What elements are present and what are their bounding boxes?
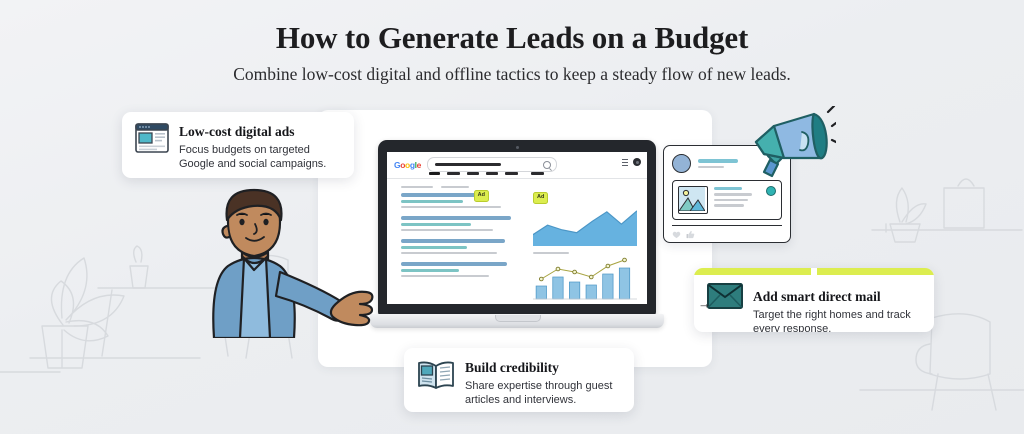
account-avatar-icon[interactable] (633, 158, 641, 166)
person-glyph (196, 188, 406, 338)
organic-results-column: Ad (387, 179, 527, 304)
envelope-glyph (707, 283, 743, 309)
chart-caption-line (533, 252, 569, 255)
card-inner: Add smart direct mail Target the right h… (707, 279, 921, 332)
social-post-author-lines (698, 159, 738, 168)
person-presenting-illustration (196, 188, 406, 343)
search-nav-tabs[interactable] (429, 172, 544, 175)
result-url (401, 223, 471, 226)
card-title: Add smart direct mail (753, 289, 921, 305)
google-logo: Google (394, 160, 421, 170)
card-text: Build credibility Share expertise throug… (465, 359, 621, 407)
card-title: Build credibility (465, 360, 621, 376)
open-book-glyph (417, 359, 455, 391)
browser-window-glyph (135, 123, 169, 153)
card-body: Focus budgets on targeted Google and soc… (179, 143, 341, 171)
result-snippet-line (401, 275, 489, 278)
browser-header-icons (622, 158, 641, 166)
search-query-text (435, 163, 501, 166)
result-url (401, 200, 463, 203)
page-subtitle: Combine low-cost digital and offline tac… (0, 64, 1024, 85)
magnifier-icon[interactable] (543, 161, 551, 169)
result-title[interactable] (401, 193, 477, 197)
social-post-reactions (672, 225, 782, 239)
ad-badge-wrapper: Ad (533, 185, 637, 204)
search-results-page: Ad (387, 179, 647, 304)
search-result-item[interactable] (401, 262, 521, 277)
grid-menu-icon[interactable] (622, 159, 628, 166)
user-avatar-icon (672, 154, 691, 173)
card-low-cost-digital-ads[interactable]: Low-cost digital ads Focus budgets on ta… (122, 112, 354, 178)
open-book-icon (417, 359, 455, 396)
card-body: Target the right homes and track every r… (753, 308, 921, 332)
search-result-item[interactable] (401, 239, 521, 254)
browser-toolbar: Google (387, 152, 647, 179)
connector-arrow-icon: → (698, 296, 711, 311)
card-add-smart-direct-mail[interactable]: Add smart direct mail Target the right h… (694, 268, 934, 332)
chart-bars (536, 268, 630, 299)
laptop-screen: Google (387, 152, 647, 304)
nav-tab-news[interactable] (486, 172, 498, 175)
result-url (401, 246, 467, 249)
card-text: Add smart direct mail Target the right h… (753, 283, 921, 332)
envelope-icon (707, 283, 743, 314)
search-result-item[interactable] (401, 216, 521, 231)
megaphone-icon (744, 106, 836, 189)
header: How to Generate Leads on a Budget Combin… (0, 0, 1024, 85)
card-text: Low-cost digital ads Focus budgets on ta… (179, 123, 341, 171)
heart-icon (672, 230, 681, 239)
nav-tab-more[interactable] (531, 172, 544, 175)
result-snippet-line (401, 252, 497, 255)
result-snippet-line (401, 206, 501, 209)
photo-thumbnail-glyph (679, 187, 705, 211)
infographic-canvas: How to Generate Leads on a Budget Combin… (0, 0, 1024, 434)
search-result-item[interactable]: Ad (401, 193, 521, 208)
result-snippet-line (401, 229, 493, 232)
card-body: Share expertise through guest articles a… (465, 379, 621, 407)
laptop: Google (370, 140, 664, 336)
bar-line-chart (533, 257, 637, 301)
ad-badge: Ad (533, 192, 548, 204)
nav-tab-images[interactable] (447, 172, 460, 175)
laptop-trackpad-notch (495, 315, 541, 322)
result-title[interactable] (401, 239, 505, 243)
photo-thumbnail-icon (678, 186, 708, 214)
card-title: Low-cost digital ads (179, 124, 341, 140)
webcam-icon (516, 146, 519, 149)
area-chart (533, 208, 637, 246)
card-build-credibility[interactable]: Build credibility Share expertise throug… (404, 348, 634, 412)
search-input[interactable] (427, 157, 557, 172)
browser-window-icon (135, 123, 169, 158)
result-title[interactable] (401, 262, 507, 266)
nav-tab-all[interactable] (429, 172, 440, 175)
breadcrumb (401, 186, 521, 188)
laptop-lid: Google (378, 140, 656, 316)
ad-badge: Ad (474, 190, 489, 202)
ads-charts-column: Ad (527, 179, 647, 304)
nav-tab-maps[interactable] (505, 172, 518, 175)
nav-tab-videos[interactable] (467, 172, 479, 175)
card-accent-bar (694, 268, 934, 275)
result-title[interactable] (401, 216, 511, 220)
page-title: How to Generate Leads on a Budget (0, 21, 1024, 55)
megaphone-glyph (744, 106, 836, 184)
result-url (401, 269, 459, 272)
thumbs-up-icon (686, 230, 695, 239)
